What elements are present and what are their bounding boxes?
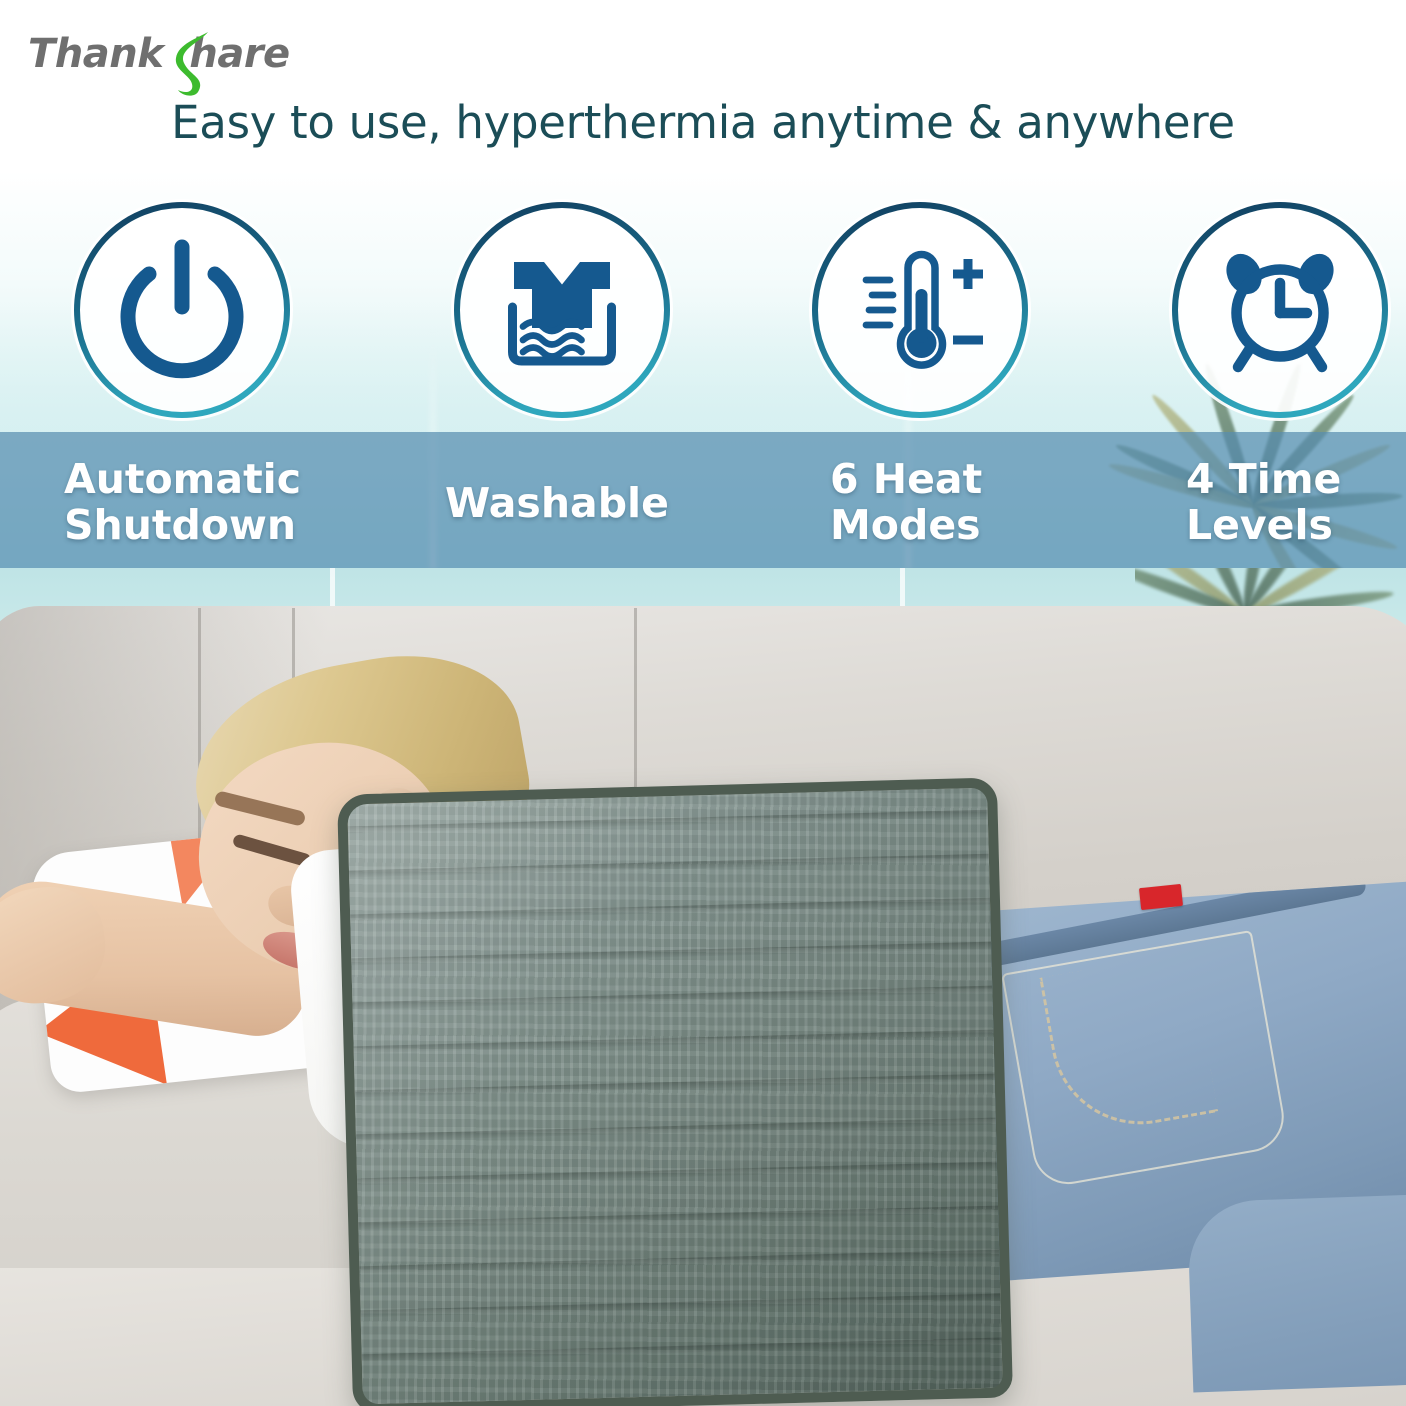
washable-garment-icon	[487, 235, 637, 385]
brand-logo: Thank hare	[28, 24, 290, 84]
brand-logo-text-part2: hare	[163, 34, 289, 74]
heating-pad-sheen	[347, 788, 1002, 1405]
feature-label-automatic-shutdown: Automatic Shutdown	[64, 456, 301, 548]
promo-header-section: Thank hare Easy to use, hyperthermia any…	[0, 0, 1406, 568]
feature-icon-row	[0, 199, 1406, 429]
power-icon	[107, 235, 257, 385]
page-headline: Easy to use, hyperthermia anytime & anyw…	[0, 96, 1406, 149]
brand-logo-text-part1: Thank	[28, 34, 163, 74]
thermometer-icon	[845, 235, 995, 385]
product-lifestyle-photo	[0, 568, 1406, 1406]
feature-label-washable: Washable	[445, 480, 669, 526]
heating-pad-surface	[337, 777, 1013, 1406]
feature-label-time-levels: 4 Time Levels	[1186, 456, 1341, 548]
jeans-brand-tab	[1139, 884, 1183, 910]
product-marketing-image: Thank hare Easy to use, hyperthermia any…	[0, 0, 1406, 1406]
person-leg	[1187, 1194, 1406, 1393]
feature-icon-washable	[451, 199, 673, 421]
feature-icon-heat-modes	[809, 199, 1031, 421]
feature-label-heat-modes: 6 Heat Modes	[830, 456, 982, 548]
feature-icon-time-levels	[1169, 199, 1391, 421]
electric-heating-pad	[337, 777, 1013, 1406]
feature-label-band: Automatic Shutdown Washable 6 Heat Modes…	[0, 432, 1406, 568]
feature-icon-power	[71, 199, 293, 421]
alarm-clock-icon	[1205, 235, 1355, 385]
